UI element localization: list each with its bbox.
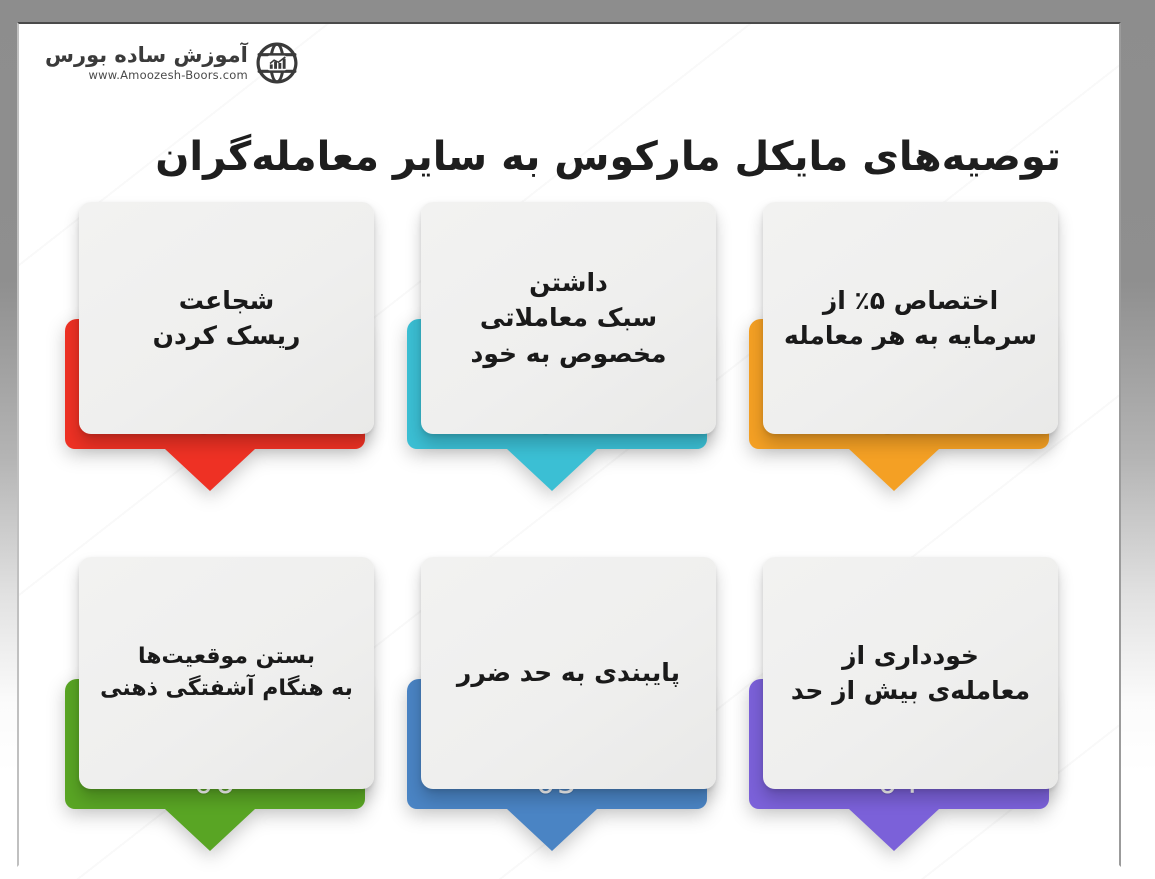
poster-background: آموزش ساده بورس www.Amoozesh-Boors.com ت… bbox=[0, 0, 1155, 879]
tip-card-06[interactable]: 06 بستن موقعیت‌ها به هنگام آشفتگی ذهنی bbox=[57, 539, 397, 879]
tip-tile-05: پایبندی به حد ضرر bbox=[421, 557, 716, 789]
tip-text-06: بستن موقعیت‌ها به هنگام آشفتگی ذهنی bbox=[100, 641, 353, 705]
tip-card-02[interactable]: 02 داشتن سبک معاملاتی مخصوص به خود bbox=[399, 194, 739, 539]
tip-card-04[interactable]: 04 خودداری از معامله‌ی بیش از حد bbox=[741, 539, 1081, 879]
tip-tile-01: اختصاص ۵٪ از سرمایه به هر معامله bbox=[763, 202, 1058, 434]
tip-card-01[interactable]: 01 اختصاص ۵٪ از سرمایه به هر معامله bbox=[741, 194, 1081, 539]
tip-tile-06: بستن موقعیت‌ها به هنگام آشفتگی ذهنی bbox=[79, 557, 374, 789]
tip-tile-04: خودداری از معامله‌ی بیش از حد bbox=[763, 557, 1058, 789]
brand-name: آموزش ساده بورس bbox=[45, 44, 248, 66]
tip-card-05[interactable]: 05 پایبندی به حد ضرر bbox=[399, 539, 739, 879]
tip-text-04: خودداری از معامله‌ی بیش از حد bbox=[791, 638, 1030, 709]
tip-tile-03: شجاعت ریسک کردن bbox=[79, 202, 374, 434]
poster-canvas: آموزش ساده بورس www.Amoozesh-Boors.com ت… bbox=[19, 24, 1119, 879]
brand-logo: آموزش ساده بورس www.Amoozesh-Boors.com bbox=[45, 41, 299, 85]
brand-website: www.Amoozesh-Boors.com bbox=[89, 68, 248, 82]
tips-card-grid: 01 اختصاص ۵٪ از سرمایه به هر معامله 02 د… bbox=[19, 194, 1119, 879]
tip-text-02: داشتن سبک معاملاتی مخصوص به خود bbox=[471, 265, 667, 372]
tip-card-03[interactable]: 03 شجاعت ریسک کردن bbox=[57, 194, 397, 539]
tip-tile-02: داشتن سبک معاملاتی مخصوص به خود bbox=[421, 202, 716, 434]
tip-text-01: اختصاص ۵٪ از سرمایه به هر معامله bbox=[784, 283, 1037, 354]
tip-text-03: شجاعت ریسک کردن bbox=[153, 283, 301, 354]
globe-chart-icon bbox=[255, 41, 299, 85]
page-title: توصیه‌های مایکل مارکوس به سایر معامله‌گر… bbox=[61, 130, 1061, 184]
tip-text-05: پایبندی به حد ضرر bbox=[457, 655, 680, 691]
